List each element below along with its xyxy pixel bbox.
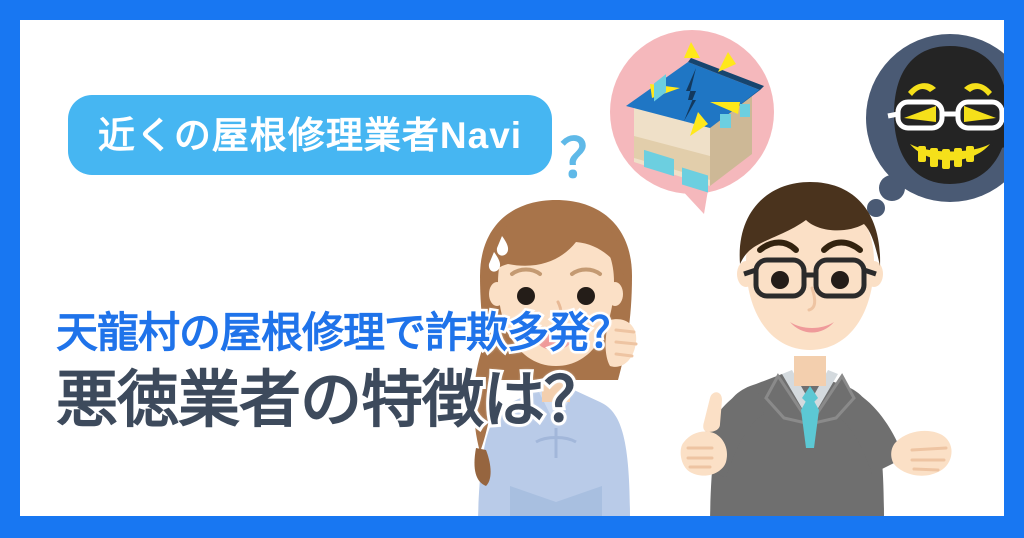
man-eye-left <box>771 271 789 289</box>
headline-line-1: 天龍村の屋根修理で詐欺多発？ <box>56 308 696 358</box>
headline-line-2: 悪徳業者の特徴は？ <box>56 364 696 438</box>
site-badge[interactable]: 近くの屋根修理業者Navi <box>68 95 552 175</box>
image-frame: 近くの屋根修理業者Navi ？ 天龍村の屋根修理で詐欺多発？ 悪徳業者の特徴は？ <box>0 0 1024 538</box>
woman-eye-right <box>577 287 595 305</box>
question-mark-decoration: ？ <box>560 132 614 186</box>
man-eye-right <box>831 271 849 289</box>
woman-eye-left <box>517 287 535 305</box>
content-canvas: 近くの屋根修理業者Navi ？ 天龍村の屋根修理で詐欺多発？ 悪徳業者の特徴は？ <box>20 20 1004 516</box>
pointing-businessman <box>660 170 960 516</box>
site-badge-label: 近くの屋根修理業者Navi <box>98 117 522 154</box>
man-open-hand <box>891 431 951 476</box>
headline-block: 天龍村の屋根修理で詐欺多発？ 悪徳業者の特徴は？ <box>56 308 696 438</box>
